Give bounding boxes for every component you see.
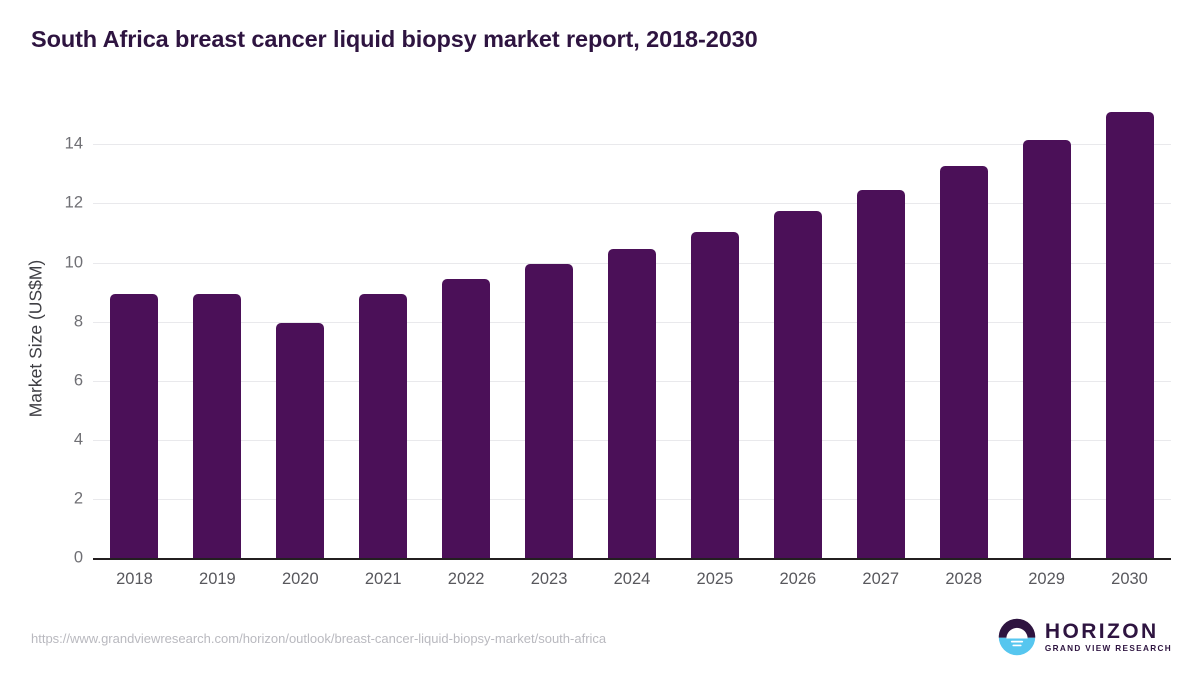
bar-slot (839, 100, 922, 558)
horizon-logo[interactable]: HORIZON GRAND VIEW RESEARCH (998, 618, 1172, 656)
x-tick-label: 2027 (839, 570, 922, 589)
bar[interactable] (1023, 140, 1071, 558)
bar-slot (591, 100, 674, 558)
bar[interactable] (691, 232, 739, 559)
bar-slot (508, 100, 591, 558)
x-tick-label: 2025 (673, 570, 756, 589)
bar[interactable] (110, 294, 158, 558)
y-tick-label: 2 (74, 489, 83, 508)
y-axis-ticks: 02468101214 (55, 100, 83, 558)
bar[interactable] (276, 323, 324, 558)
x-tick-label: 2029 (1005, 570, 1088, 589)
bar[interactable] (774, 211, 822, 558)
logo-wordmark: HORIZON (1045, 621, 1172, 642)
x-tick-label: 2023 (508, 570, 591, 589)
bar-slot (673, 100, 756, 558)
source-url[interactable]: https://www.grandviewresearch.com/horizo… (31, 631, 606, 646)
logo-tagline: GRAND VIEW RESEARCH (1045, 645, 1172, 653)
logo-text: HORIZON GRAND VIEW RESEARCH (1045, 621, 1172, 653)
bar-slot (425, 100, 508, 558)
bar[interactable] (940, 166, 988, 558)
x-tick-label: 2022 (425, 570, 508, 589)
x-axis-ticks: 2018201920202021202220232024202520262027… (93, 570, 1171, 596)
x-tick-label: 2024 (591, 570, 674, 589)
y-tick-label: 4 (74, 430, 83, 449)
bar[interactable] (359, 294, 407, 558)
bar[interactable] (525, 264, 573, 558)
y-tick-label: 0 (74, 549, 83, 568)
y-tick-label: 8 (74, 312, 83, 331)
bar[interactable] (193, 294, 241, 558)
x-tick-label: 2018 (93, 570, 176, 589)
chart-page: South Africa breast cancer liquid biopsy… (0, 0, 1200, 675)
bar-slot (93, 100, 176, 558)
page-title: South Africa breast cancer liquid biopsy… (31, 26, 758, 53)
bar-slot (259, 100, 342, 558)
x-tick-label: 2021 (342, 570, 425, 589)
bar[interactable] (608, 249, 656, 558)
bar-slot (1088, 100, 1171, 558)
x-axis-line (93, 558, 1171, 560)
horizon-sun-circle-icon (998, 618, 1036, 656)
y-tick-label: 10 (65, 253, 83, 272)
bar-slot (176, 100, 259, 558)
bar-slot (1005, 100, 1088, 558)
y-tick-label: 12 (65, 194, 83, 213)
x-tick-label: 2019 (176, 570, 259, 589)
plot-area (93, 100, 1171, 558)
bar[interactable] (442, 279, 490, 558)
bar[interactable] (857, 190, 905, 558)
x-tick-label: 2020 (259, 570, 342, 589)
x-tick-label: 2026 (756, 570, 839, 589)
bar-slot (756, 100, 839, 558)
y-axis-title: Market Size (US$M) (26, 129, 47, 549)
bar[interactable] (1106, 112, 1154, 558)
x-tick-label: 2030 (1088, 570, 1171, 589)
y-tick-label: 6 (74, 371, 83, 390)
x-tick-label: 2028 (922, 570, 1005, 589)
bar-slot (922, 100, 1005, 558)
bar-slot (342, 100, 425, 558)
y-tick-label: 14 (65, 135, 83, 154)
